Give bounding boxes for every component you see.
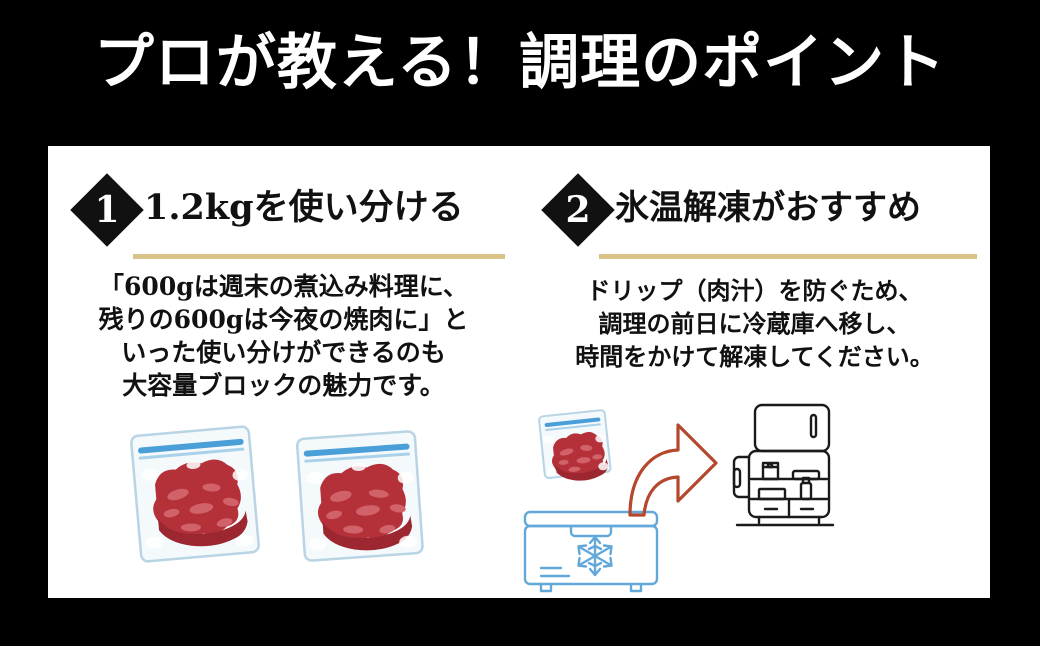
meat-bag-icon [536,407,616,485]
tip-1-body-line: いった使い分けができるのも [70,336,497,369]
tip-1-illustrations [48,401,519,598]
tip-2-heading: 氷温解凍がおすすめ [615,178,975,238]
tip-panel-2: 2 氷温解凍がおすすめ ドリップ（肉汁）を防ぐため、 調理の前日に冷蔵庫へ移し、… [519,146,990,598]
curved-arrow-icon [624,417,720,521]
tip-1-underline [133,254,505,259]
tip-1-body-line: 大容量ブロックの魅力です。 [70,369,497,402]
tip-1-body-line: 「600gは週末の煮込み料理に、 [70,270,497,303]
tip-1-body-line: 残りの600gは今夜の焼肉に」と [70,303,497,336]
meat-bag-icon [291,423,429,573]
page-title: プロが教える！調理のポイント [0,26,1040,100]
tip-1-heading: 1.2kgを使い分ける [144,178,504,238]
tip-1-heading-row: 1 1.2kgを使い分ける [48,174,519,260]
tip-2-body: ドリップ（肉汁）を防ぐため、 調理の前日に冷蔵庫へ移し、 時間をかけて解凍してく… [541,274,968,373]
diamond-badge-2-number: 2 [552,184,604,236]
meat-bag-icon [126,419,264,569]
tip-2-heading-row: 2 氷温解凍がおすすめ [519,174,990,260]
diamond-badge-1-number: 1 [81,184,133,236]
content-card: 1 1.2kgを使い分ける 「600gは週末の煮込み料理に、 残りの600gは今… [48,146,990,598]
tip-2-illustrations [519,401,990,598]
refrigerator-icon [715,401,843,533]
tip-2-body-line: 時間をかけて解凍してください。 [541,340,968,373]
infographic-canvas: プロが教える！調理のポイント 1 1.2kgを使い分ける 「600gは週末の煮込… [0,0,1040,646]
tip-panel-1: 1 1.2kgを使い分ける 「600gは週末の煮込み料理に、 残りの600gは今… [48,146,519,598]
tip-2-underline [599,254,977,259]
tip-2-body-line: 調理の前日に冷蔵庫へ移し、 [541,307,968,340]
tip-1-body: 「600gは週末の煮込み料理に、 残りの600gは今夜の焼肉に」と いった使い分… [70,270,497,402]
tip-2-body-line: ドリップ（肉汁）を防ぐため、 [541,274,968,307]
